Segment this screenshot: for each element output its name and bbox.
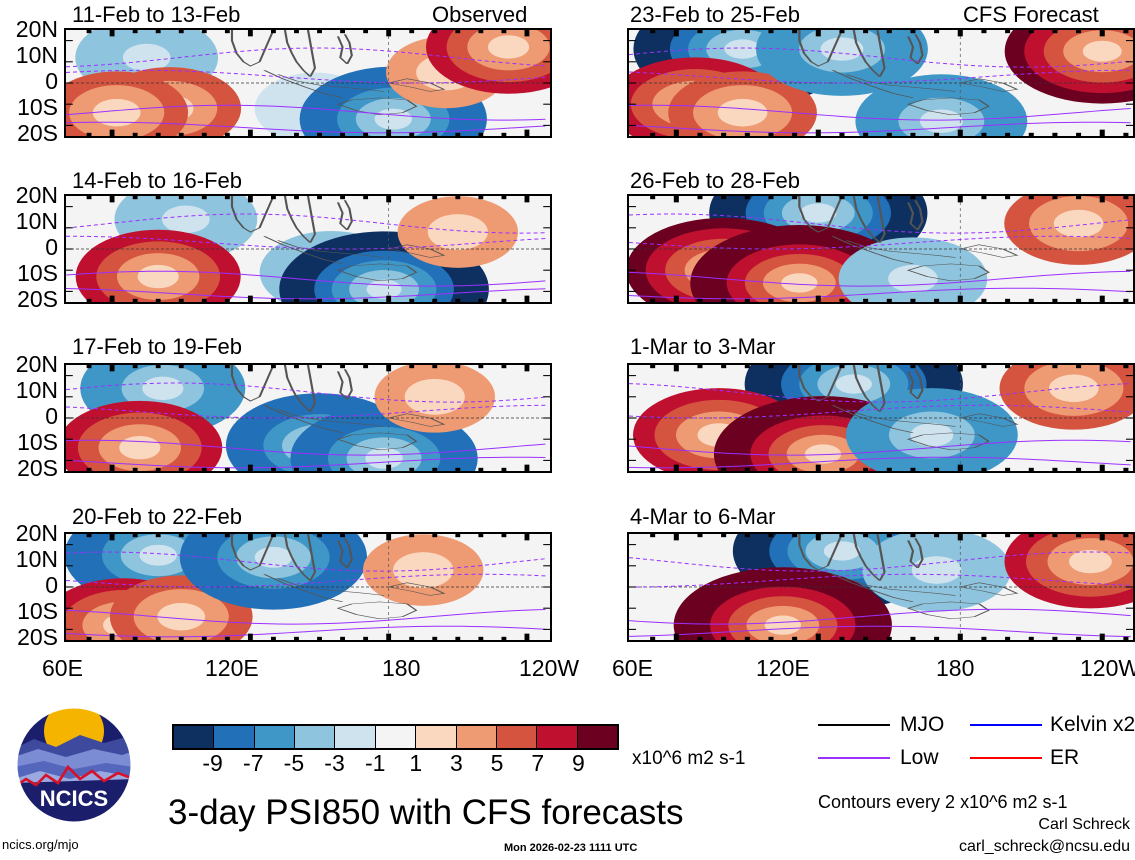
anomaly-contour xyxy=(910,423,953,446)
author-email: carl_schreck@ncsu.edu xyxy=(870,839,1130,855)
anomaly-contour xyxy=(488,35,529,58)
xtick-label-60E: 60E xyxy=(612,657,653,680)
map-panel-observed-1[interactable] xyxy=(64,28,552,138)
map-panel-forecast-3[interactable] xyxy=(627,363,1135,473)
colorbar-tick-9: 9 xyxy=(558,752,598,775)
colorbar-swatch-1 xyxy=(214,726,254,748)
anomaly-contour xyxy=(119,436,160,459)
anomaly-contour xyxy=(1054,210,1104,238)
colorbar-swatch-2 xyxy=(255,726,295,748)
xtick-label-180: 180 xyxy=(936,657,974,680)
legend-line-low xyxy=(818,757,890,759)
ytick-label-10S: 10S xyxy=(0,262,58,285)
main-title: 3-day PSI850 with CFS forecasts xyxy=(168,795,684,830)
ytick-label-10S: 10S xyxy=(0,96,58,119)
anomaly-contour xyxy=(375,109,412,130)
panel-title-1-2: 1-Mar to 3-Mar xyxy=(630,336,775,358)
ytick-label-20N: 20N xyxy=(0,184,58,207)
xtick-label-180: 180 xyxy=(382,657,420,680)
anomaly-contour xyxy=(718,99,768,127)
anomaly-contour xyxy=(765,616,801,635)
anomaly-contour xyxy=(142,377,183,400)
colorbar-tick--1: -1 xyxy=(355,752,395,775)
colorbar-tick--9: -9 xyxy=(193,752,233,775)
colorbar[interactable] xyxy=(172,724,619,750)
xtick-label-120W: 120W xyxy=(1080,657,1135,680)
site-url[interactable]: ncics.org/mjo xyxy=(2,838,79,851)
ytick-label-0: 0 xyxy=(0,405,58,428)
contour-note: Contours every 2 x10^6 m2 s-1 xyxy=(818,793,1068,811)
anomaly-contour xyxy=(1083,41,1122,62)
ytick-label-0: 0 xyxy=(0,236,58,259)
anomaly-contour xyxy=(836,374,872,393)
anomaly-contour xyxy=(912,556,962,584)
anomaly-contour xyxy=(820,37,863,60)
map-panel-observed-2[interactable] xyxy=(64,194,552,304)
legend-label-low: Low xyxy=(900,747,939,768)
ytick-label-0: 0 xyxy=(0,574,58,597)
anomaly-contour xyxy=(162,206,210,234)
panel-title-0-2: 17-Feb to 19-Feb xyxy=(72,336,242,358)
panel-title-0-3: 20-Feb to 22-Feb xyxy=(72,506,242,528)
anomaly-contour xyxy=(724,39,760,58)
ytick-label-10N: 10N xyxy=(0,44,58,67)
colorbar-swatch-9 xyxy=(537,726,577,748)
anomaly-contour xyxy=(1049,375,1099,403)
ytick-label-20S: 20S xyxy=(0,288,58,311)
colorbar-swatch-4 xyxy=(335,726,375,748)
legend-label-mjo: MJO xyxy=(900,714,944,735)
colorbar-units-label: x10^6 m2 s-1 xyxy=(632,748,745,770)
colorbar-swatch-6 xyxy=(416,726,456,748)
anomaly-contour xyxy=(1069,550,1112,573)
ytick-label-0: 0 xyxy=(0,70,58,93)
panel-title-0-0: 11-Feb to 13-Feb xyxy=(72,4,240,26)
colorbar-tick-7: 7 xyxy=(518,752,558,775)
anomaly-contour xyxy=(123,44,171,72)
author-name: Carl Schreck xyxy=(925,817,1130,833)
legend-line-kelvin xyxy=(970,724,1042,726)
ncics-logo: NCICS xyxy=(14,705,134,825)
legend-label-er: ER xyxy=(1050,747,1079,768)
panel-title-1-3: 4-Mar to 6-Mar xyxy=(630,506,775,528)
anomaly-contour xyxy=(139,545,176,566)
logo-text: NCICS xyxy=(40,786,108,811)
map-panel-forecast-1[interactable] xyxy=(627,28,1135,138)
colorbar-swatch-0 xyxy=(174,726,214,748)
column-header-observed: Observed xyxy=(432,4,527,26)
legend-label-kelvin: Kelvin x2 xyxy=(1050,714,1135,735)
legend-line-er xyxy=(970,757,1042,759)
colorbar-swatch-3 xyxy=(295,726,335,748)
xtick-label-120W: 120W xyxy=(519,657,579,680)
colorbar-tick--5: -5 xyxy=(274,752,314,775)
anomaly-contour xyxy=(781,273,817,292)
ytick-label-20S: 20S xyxy=(0,122,58,145)
legend-line-mjo xyxy=(818,724,890,726)
ytick-label-20N: 20N xyxy=(0,18,58,41)
map-panel-observed-3[interactable] xyxy=(64,363,552,473)
anomaly-contour xyxy=(365,448,402,469)
ytick-label-20N: 20N xyxy=(0,353,58,376)
anomaly-contour xyxy=(138,265,179,288)
ytick-label-10S: 10S xyxy=(0,431,58,454)
ytick-label-20S: 20S xyxy=(0,457,58,480)
colorbar-swatch-5 xyxy=(376,726,416,748)
colorbar-swatch-7 xyxy=(457,726,497,748)
ytick-label-10N: 10N xyxy=(0,210,58,233)
panel-title-1-1: 26-Feb to 28-Feb xyxy=(630,170,800,192)
timestamp: Mon 2026-02-23 1111 UTC xyxy=(504,843,637,854)
ytick-label-20S: 20S xyxy=(0,626,58,649)
colorbar-tick-3: 3 xyxy=(436,752,476,775)
map-panel-forecast-2[interactable] xyxy=(627,194,1135,304)
panel-title-1-0: 23-Feb to 25-Feb xyxy=(630,4,800,26)
anomaly-contour xyxy=(157,603,205,631)
colorbar-tick-5: 5 xyxy=(477,752,517,775)
colorbar-tick--7: -7 xyxy=(233,752,273,775)
colorbar-swatch-10 xyxy=(578,726,617,748)
column-header-cfs-forecast: CFS Forecast xyxy=(963,4,1099,26)
colorbar-tick-1: 1 xyxy=(396,752,436,775)
anomaly-contour xyxy=(405,379,465,415)
panel-title-0-1: 14-Feb to 16-Feb xyxy=(72,170,242,192)
map-panel-forecast-4[interactable] xyxy=(627,532,1135,642)
xtick-label-120E: 120E xyxy=(205,657,259,680)
ytick-label-10S: 10S xyxy=(0,600,58,623)
xtick-label-60E: 60E xyxy=(42,657,83,680)
ytick-label-20N: 20N xyxy=(0,522,58,545)
map-panel-observed-4[interactable] xyxy=(64,532,552,642)
colorbar-tick--3: -3 xyxy=(315,752,355,775)
ytick-label-10N: 10N xyxy=(0,548,58,571)
ytick-label-10N: 10N xyxy=(0,379,58,402)
xtick-label-120E: 120E xyxy=(756,657,810,680)
colorbar-swatch-8 xyxy=(497,726,537,748)
